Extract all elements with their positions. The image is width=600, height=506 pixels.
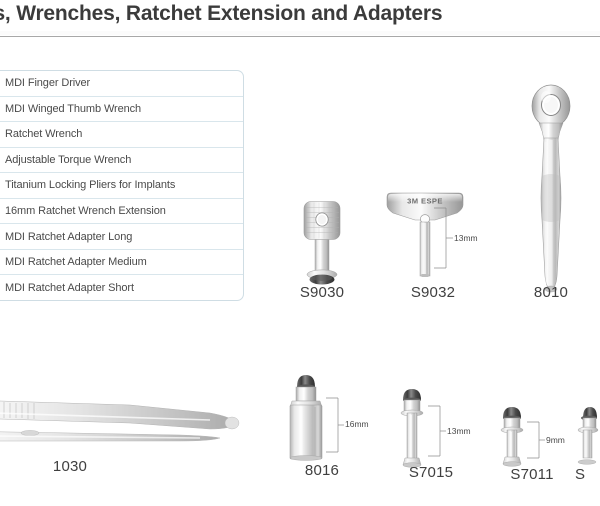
page-root: ers, Wrenches, Ratchet Extension and Ada… xyxy=(0,0,600,506)
product-code-label: 8016 xyxy=(277,462,367,479)
list-item-label: Ratchet Wrench xyxy=(0,128,82,140)
product-code-label: 8010 xyxy=(516,284,586,301)
list-item-label: MDI Ratchet Adapter Short xyxy=(0,282,134,294)
product-s7015: 13mm S7015 xyxy=(388,378,474,482)
product-clipped-right: S xyxy=(583,396,600,484)
list-item[interactable]: Ratchet Wrench xyxy=(0,122,243,148)
product-code-label: S xyxy=(575,466,600,483)
list-item[interactable]: Adjustable Torque Wrench xyxy=(0,148,243,174)
header-rule xyxy=(0,36,600,37)
product-8016: 16mm 8016 xyxy=(277,362,367,480)
product-code-label: S7015 xyxy=(388,464,474,481)
product-code-label: 1030 xyxy=(40,458,100,475)
list-item[interactable]: 16mm Ratchet Wrench Extension xyxy=(0,199,243,225)
list-item[interactable]: MDI Ratchet Adapter Medium xyxy=(0,250,243,276)
list-item-label: MDI Finger Driver xyxy=(0,77,90,89)
list-item[interactable]: MDI Winged Thumb Wrench xyxy=(0,97,243,123)
product-s9030: S9030 xyxy=(286,186,358,304)
product-s9032: 3M ESPE 13mm S9032 xyxy=(385,178,481,304)
dimension-label: 13mm xyxy=(447,426,471,436)
product-s7011: 9mm S7011 xyxy=(489,396,575,484)
product-8010: 8010 xyxy=(516,74,586,304)
product-1030: 1030 xyxy=(0,370,250,480)
product-code-label: S7011 xyxy=(489,466,575,483)
product-code-label: S9032 xyxy=(385,284,481,301)
list-item[interactable]: MDI Ratchet Adapter Short xyxy=(0,275,243,301)
dimension-label: 9mm xyxy=(546,435,565,445)
list-item-label: MDI Ratchet Adapter Long xyxy=(0,231,132,243)
product-list-panel: MDI Finger Driver MDI Winged Thumb Wrenc… xyxy=(0,70,244,301)
list-item[interactable]: MDI Ratchet Adapter Long xyxy=(0,224,243,250)
ratchet-wrench-illustration xyxy=(516,74,586,304)
dimension-label: 13mm xyxy=(454,233,478,243)
page-title: ers, Wrenches, Ratchet Extension and Ada… xyxy=(0,2,600,26)
dimension-label: 16mm xyxy=(345,419,369,429)
list-item-label: Titanium Locking Pliers for Implants xyxy=(0,179,175,191)
list-item-label: 16mm Ratchet Wrench Extension xyxy=(0,205,166,217)
product-code-label: S9030 xyxy=(286,284,358,301)
header-rule-shadow xyxy=(0,31,600,35)
list-item[interactable]: MDI Finger Driver xyxy=(0,71,243,97)
locking-pliers-illustration xyxy=(0,370,250,480)
list-item-label: MDI Ratchet Adapter Medium xyxy=(0,256,147,268)
list-item-label: MDI Winged Thumb Wrench xyxy=(0,103,141,115)
list-item[interactable]: Titanium Locking Pliers for Implants xyxy=(0,173,243,199)
brand-etch-3m-espe: 3M ESPE xyxy=(407,197,443,206)
list-item-label: Adjustable Torque Wrench xyxy=(0,154,131,166)
